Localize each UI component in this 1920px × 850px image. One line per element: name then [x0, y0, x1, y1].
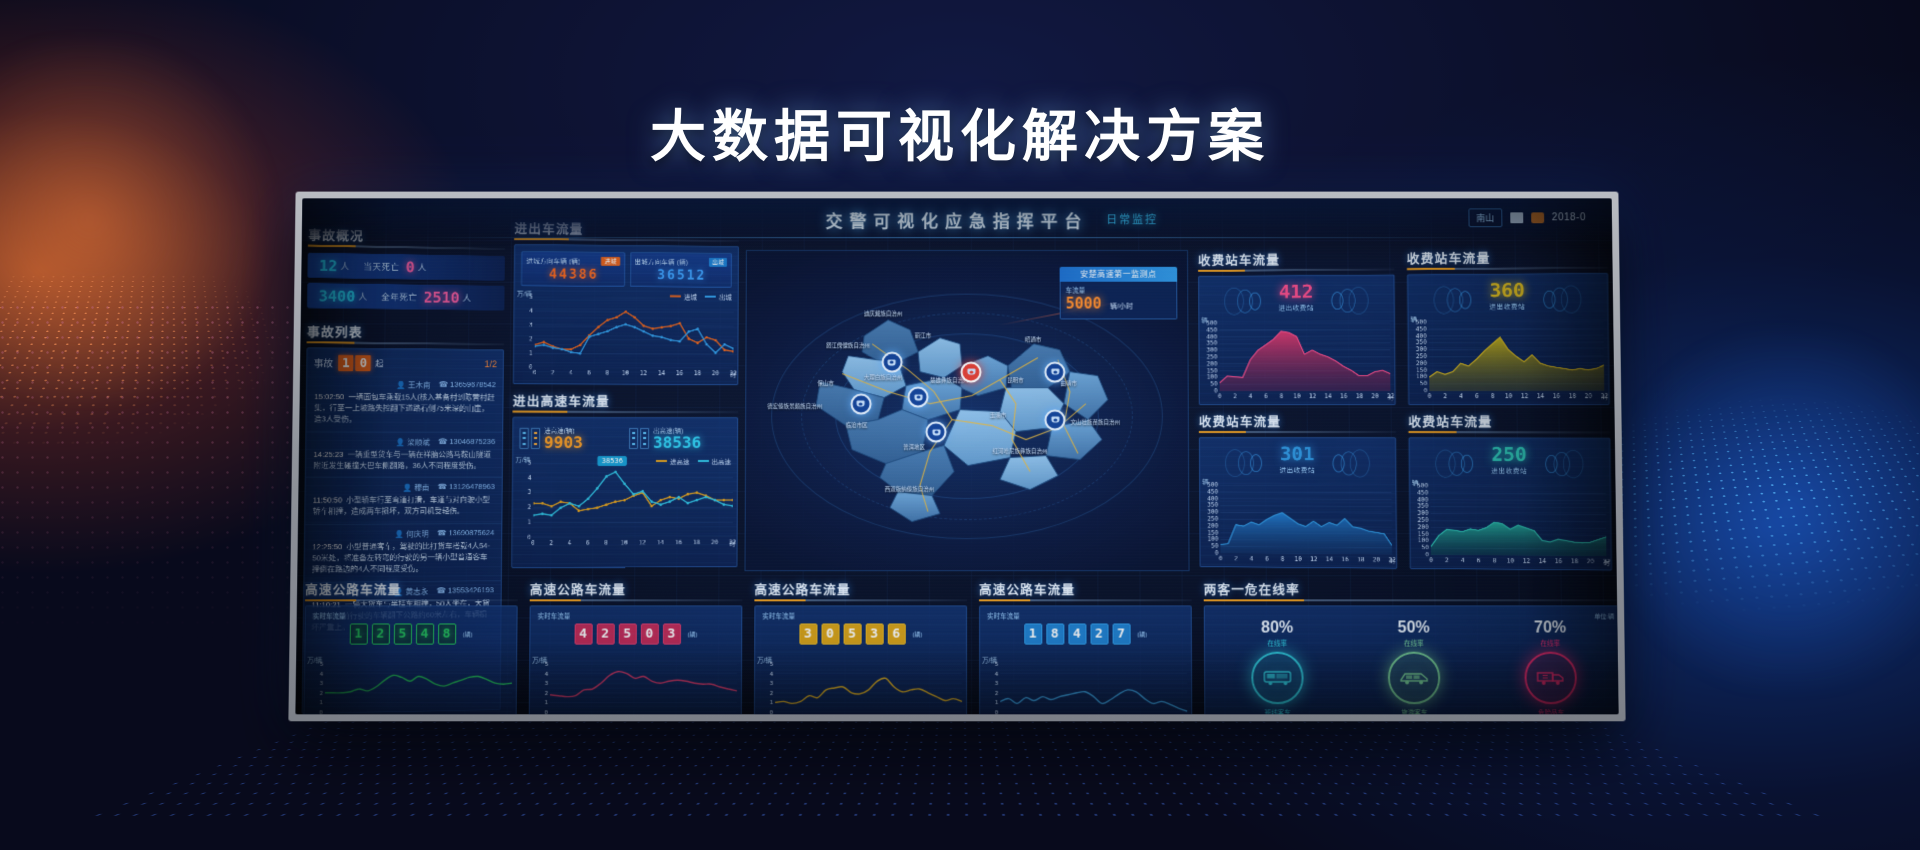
online-rate-percent: 50% [1350, 620, 1477, 636]
chart-point [533, 514, 535, 517]
x-tick: 0 [1428, 393, 1432, 400]
legend-item: 出高速 [697, 456, 731, 466]
chart-svg [533, 463, 733, 538]
chart-inout-flow: 万/辆5432100246810121416182022时进城出城 [514, 288, 738, 381]
chart-x-axis: 0246810121416182022时 [1220, 392, 1391, 404]
map-city-label: 保山市 [817, 381, 834, 388]
legend-swatch [670, 295, 681, 297]
toll-panel-title: 收费站车流量 [1199, 411, 1396, 433]
x-tick: 0 [1218, 393, 1222, 400]
accident-time: 14:25:23 [313, 449, 343, 458]
chart-point [596, 487, 599, 490]
stat-label-secondary: 当天死亡 [363, 260, 399, 273]
odometer-digit: 7 [1112, 623, 1130, 644]
stat-value-primary: 12 [319, 256, 338, 274]
toll-panel-body: 412进出收费站辆5004504003503002502001501005000… [1198, 274, 1396, 405]
x-tick: 20 [712, 370, 719, 377]
bus-icon [1251, 652, 1304, 704]
x-tick: 16 [1341, 556, 1348, 563]
chart-point [606, 330, 609, 333]
y-tick: 2 [995, 689, 999, 696]
x-tick: 12 [1523, 558, 1531, 565]
toll-caption: 进出收费站 [1489, 301, 1525, 311]
x-tick: 18 [1571, 558, 1579, 565]
chart-highway: 万/辆5432100246810121416182022时 [530, 655, 741, 715]
chart-plot [1219, 323, 1390, 392]
chart-point [696, 328, 699, 331]
toll-panel-body: 301进出收费站辆5004504003503002502001501005000… [1199, 437, 1397, 569]
highway-panel-title: 高速公路车流量 [530, 579, 743, 601]
chart-x-axis: 0246810121416182022时 [1431, 556, 1607, 570]
traffic-light-icon [531, 428, 540, 449]
signal-wave-right-icon [1332, 450, 1367, 476]
x-tick: 12 [1309, 393, 1316, 400]
x-tick: 14 [1539, 558, 1547, 565]
chart-highway: 万/辆5432100246810121416182022时 [755, 655, 966, 715]
x-tick: 12 [1310, 556, 1317, 563]
yunnan-map-shape [802, 300, 1133, 529]
odometer-digit: 3 [662, 623, 680, 644]
odometer-digit: 3 [799, 623, 817, 644]
chart-point [624, 310, 627, 313]
odometer-digit: 4 [415, 623, 433, 644]
x-tick: 20 [1371, 393, 1378, 400]
chart-point [723, 349, 726, 352]
chart-point [732, 350, 734, 353]
chart-point [714, 499, 717, 502]
chart-point [678, 340, 681, 343]
chart-svg [534, 297, 733, 368]
x-tick: 4 [1461, 557, 1465, 564]
chart-y-axis: 500450400350300250200150100500 [1202, 485, 1218, 553]
odometer-digit: 2 [1090, 623, 1108, 644]
toll-caption: 进出收费站 [1279, 302, 1314, 312]
y-tick: 1 [529, 350, 533, 357]
y-tick: 4 [770, 670, 774, 677]
odometer-digit: 5 [843, 623, 861, 644]
map-city-label: 昆明市 [1007, 378, 1023, 385]
chart-point [668, 500, 671, 503]
chart-point [642, 325, 645, 328]
highway-panel-caption: 实时车流量 [755, 606, 966, 621]
chart-svg [1220, 485, 1392, 555]
stat-value-secondary: 2510 [423, 288, 459, 306]
highway-panel-body: 实时车流量30536(辆)万/辆543210024681012141618202… [754, 605, 967, 714]
chart-y-axis: 543210 [757, 664, 773, 712]
accident-list-item[interactable]: 👤 王木南☎ 1365967854215:02:50一辆面包车乘载15人(核入基… [307, 375, 503, 433]
chart-point [605, 503, 608, 506]
x-tick: 2 [1234, 555, 1238, 562]
chart-y-axis: 543210 [532, 664, 548, 712]
chart-point [542, 341, 545, 344]
map-tooltip-body: 车流量 5000 辆/小时 [1060, 282, 1178, 320]
panel-toll-station: 收费站车流量412进出收费站辆5004504003503002502001501… [1198, 248, 1396, 405]
y-tick: 5 [529, 294, 533, 301]
x-tick: 2 [1445, 557, 1449, 564]
y-tick: 4 [319, 670, 323, 677]
x-tick: 8 [1493, 557, 1497, 564]
chart-point [597, 333, 600, 336]
chart-plot [550, 664, 737, 712]
panel-highway-flow: 高速公路车流量实时车流量18427(辆)万/辆54321002468101214… [979, 579, 1192, 714]
y-tick: 4 [995, 670, 999, 677]
accident-list-item[interactable]: 👤 穆南☎ 1312647896311:50:50小型轿车行至弯道打滑，车道与对… [305, 478, 501, 525]
map-city-label: 丽江市 [915, 333, 931, 340]
chart-svg [1219, 323, 1390, 392]
x-tick: 0 [531, 540, 535, 547]
map-tooltip: 安楚高速第一监测点 车流量 5000 辆/小时 [1060, 267, 1178, 320]
highway-panel-title: 高速公路车流量 [305, 579, 518, 601]
chart-plot [775, 664, 962, 712]
chart-point [632, 493, 635, 496]
chart-legend: 进高速出高速 [656, 456, 731, 466]
odometer-digit: 3 [569, 267, 577, 282]
highway-odometer: 12548(辆) [305, 623, 516, 644]
map-panel[interactable]: 迪庆藏族自治州丽江市怒江傈僳族自治州大理白族自治州楚雄彝族自治州昭通市昆明市曲靖… [744, 250, 1189, 571]
toll-value-block: 412进出收费站 [1278, 283, 1313, 312]
x-tick: 14 [657, 539, 664, 546]
bottom-row: 高速公路车流量实时车流量12548(辆)万/辆54321002468101214… [303, 579, 1610, 714]
chart-point [668, 496, 671, 499]
chart-y-axis: 500450400350300250200150100500 [1201, 323, 1217, 391]
odometer-digit: 4 [574, 623, 592, 644]
chart-point [669, 325, 672, 328]
flow-card-tag: 出城 [709, 257, 727, 266]
chart-point [732, 499, 733, 502]
x-tick: 6 [1475, 393, 1479, 400]
flow-card-tag: 进城 [601, 256, 619, 265]
map-alert-marker-icon[interactable] [961, 361, 982, 382]
traffic-light-icon-group [520, 428, 540, 449]
vehicle-type-name: 班线客车 [1214, 707, 1341, 714]
map-camera-marker-icon[interactable] [926, 422, 947, 443]
map-camera-marker-icon[interactable] [1045, 361, 1066, 382]
chart-point [669, 339, 672, 342]
chart-point [650, 500, 653, 503]
map-tooltip-unit: 辆/小时 [1110, 304, 1133, 311]
map-camera-marker-icon[interactable] [881, 352, 902, 373]
map-tooltip-label: 车流量 [1066, 285, 1172, 295]
chart-x-axis: 0246810121416182022时 [775, 713, 962, 714]
highway-panel-body: 实时车流量18427(辆)万/辆543210024681012141618202… [979, 605, 1192, 714]
chart-point [659, 503, 662, 506]
panel-highway-flow: 高速公路车流量实时车流量30536(辆)万/辆54321002468101214… [754, 579, 967, 714]
chart-point [541, 512, 544, 515]
x-tick: 12 [640, 370, 647, 377]
chart-plot [533, 463, 733, 538]
odometer-digit: 6 [589, 268, 597, 283]
x-tick: 4 [569, 370, 573, 377]
curved-video-wall: 交警可视化应急指挥平台 日常监控 南山 2018-0 事故概况 12人当天死亡0… [292, 190, 1622, 720]
chart-x-axis: 0246810121416182022时 [550, 713, 737, 714]
x-tick: 16 [1340, 393, 1347, 400]
coach-icon [1388, 652, 1441, 704]
truck-icon [1524, 652, 1577, 704]
highway-odometer: 42503(辆) [530, 623, 741, 644]
accident-count-digit: 0 [356, 355, 372, 371]
chart-area [1431, 522, 1607, 556]
flow-card-caption-row: 进城方向车辆 (辆)进城 [526, 255, 619, 266]
y-tick: 3 [769, 680, 773, 687]
accident-list-item[interactable]: 👤 梁顺斌☎ 1304687523614:25:23一辆重型货车与一辆在祥脑公路… [306, 432, 502, 478]
x-tick: 16 [675, 539, 682, 546]
toll-value: 360 [1489, 281, 1525, 300]
accident-item-text: 15:02:50一辆面包车乘载15人(核入基备村到陈营村赶集，行至一上坡路失控翻… [314, 392, 496, 426]
chart-toll: 辆500450400350300250200150100500024681012… [1408, 312, 1609, 404]
dashboard-screen: 交警可视化应急指挥平台 日常监控 南山 2018-0 事故概况 12人当天死亡0… [295, 199, 1618, 715]
x-tick: 10 [622, 370, 629, 377]
accident-stat-row: 12人当天死亡0人 [308, 253, 505, 281]
map-city-label: 玉溪市 [990, 413, 1007, 420]
chart-point [614, 470, 617, 473]
traffic-light-icon [629, 428, 638, 449]
flow-card-caption: 进城方向车辆 (辆) [526, 255, 580, 265]
highway-panel-body: 实时车流量12548(辆)万/辆543210024681012141618202… [303, 605, 517, 714]
x-tick: 16 [1553, 393, 1561, 400]
chart-plot [1220, 485, 1392, 555]
accident-time: 15:02:50 [314, 392, 344, 401]
two-passenger-item[interactable]: 70%在线率危险品车5000 [1487, 620, 1615, 714]
odometer-digit: 1 [687, 268, 695, 283]
chart-point [687, 330, 690, 333]
odometer-digit: 5 [393, 623, 411, 644]
chart-point [578, 509, 581, 512]
chart-x-axis: 0246810121416182022时 [1429, 392, 1604, 404]
legend-swatch [705, 295, 716, 297]
chart-point [559, 506, 562, 509]
dashboard-header: 交警可视化应急指挥平台 日常监控 南山 2018-0 [302, 199, 1612, 245]
inout-flow-cards: 进城方向车辆 (辆)进城44386出城方向车辆 (辆)出城36512 [515, 245, 738, 292]
chart-point [714, 351, 717, 354]
panel-highway-flow: 高速公路车流量实时车流量42503(辆)万/辆54321002468101214… [529, 579, 743, 714]
highway-odometer: 18427(辆) [980, 623, 1191, 644]
chart-point [642, 330, 645, 333]
toll-panel-title: 收费站车流量 [1198, 248, 1395, 272]
vehicle-type-name: 旅游客车 [1351, 707, 1478, 714]
chart-point [552, 346, 555, 349]
center-map-column: 迪庆藏族自治州丽江市怒江傈僳族自治州大理白族自治州楚雄彝族自治州昭通市昆明市曲靖… [744, 250, 1189, 571]
signal-wave-left-icon [1437, 287, 1472, 313]
two-passenger-item[interactable]: 50%在线率旅游客车6000 [1350, 620, 1478, 714]
y-tick: 2 [544, 689, 548, 696]
accident-item-meta: 👤 何庆明☎ 13690875624 [312, 528, 494, 540]
y-tick: 4 [545, 670, 549, 677]
two-passenger-body: 单位:辆80%在线率班线客车5000050%在线率旅游客车600070%在线率危… [1204, 605, 1619, 714]
toll-station-column: 收费站车流量412进出收费站辆5004504003503002502001501… [1198, 246, 1616, 575]
accident-reporter: 👤 穆南 [403, 482, 430, 493]
accident-count-header: 事故 10 起 1/2 [307, 348, 503, 376]
screen-bezel: 交警可视化应急指挥平台 日常监控 南山 2018-0 事故概况 12人当天死亡0… [288, 192, 1625, 722]
chart-point [723, 343, 726, 346]
y-tick: 3 [544, 680, 548, 687]
x-tick: 20 [1585, 393, 1593, 400]
odometer-digit: 4 [559, 267, 567, 282]
highway-panel-caption: 实时车流量 [980, 606, 1191, 621]
odometer-digit: 4 [1068, 623, 1086, 644]
header-right-controls: 南山 2018-0 [1468, 208, 1586, 227]
x-tick: 20 [711, 539, 718, 546]
odometer-digit: 2 [596, 623, 614, 644]
odometer-digit: 8 [1046, 623, 1064, 644]
x-unit: 时 [730, 539, 736, 548]
chart-point [588, 335, 591, 338]
inout-highway-body: 进高速(辆) 9903 出高速(辆) [511, 417, 738, 569]
chart-area [1429, 337, 1605, 391]
chart-point [633, 316, 636, 319]
chart-y-axis: 543210 [307, 664, 324, 712]
legend-label: 出城 [719, 292, 732, 302]
chart-point [687, 337, 690, 340]
inout-flow-card: 出城方向车辆 (辆)出城36512 [629, 252, 732, 288]
header-date: 2018-0 [1552, 212, 1586, 223]
chart-point [568, 502, 571, 505]
chart-point [678, 322, 681, 325]
chart-point [686, 493, 689, 496]
screen-icon[interactable] [1510, 212, 1523, 223]
odometer-digit: 5 [618, 623, 636, 644]
chart-area [1220, 512, 1392, 554]
y-tick: 2 [319, 689, 323, 696]
accident-list-item[interactable]: 👤 何庆明☎ 1369087562412:25:50小型普通客车，驾驶的比打货车… [305, 524, 502, 583]
y-tick: 4 [528, 474, 532, 481]
panel-inout-highway: 进出高速车流量 进高速(辆) 9903 [511, 390, 738, 568]
chart-point [705, 496, 708, 499]
map-camera-marker-icon[interactable] [908, 387, 929, 408]
map-city-label: 文山壮族苗族自治州 [1070, 419, 1120, 426]
y-tick: 2 [529, 336, 533, 343]
panel-toll-station: 收费站车流量360进出收费站辆5004504003503002502001501… [1407, 246, 1610, 405]
x-tick: 6 [1264, 393, 1268, 400]
chart-point [723, 499, 726, 502]
chart-point [633, 326, 636, 329]
x-tick: 8 [1280, 393, 1284, 400]
panel-toll-station: 收费站车流量301进出收费站辆5004504003503002502001501… [1199, 411, 1398, 569]
highway-panel-caption: 实时车流量 [531, 606, 742, 621]
panel-toll-station: 收费站车流量250进出收费站辆5004504003503002502001501… [1408, 411, 1612, 571]
chart-point [696, 342, 699, 345]
two-passenger-item[interactable]: 80%在线率班线客车50000 [1214, 620, 1342, 714]
x-tick: 6 [1265, 556, 1269, 563]
chart-y-axis: 543210 [516, 297, 533, 367]
x-tick: 8 [1281, 556, 1285, 563]
chart-point [550, 514, 553, 517]
accident-item-meta: 👤 梁顺斌☎ 13046875236 [314, 436, 496, 447]
x-tick: 18 [1356, 393, 1363, 400]
chart-x-axis: 0246810121416182022时 [325, 713, 512, 714]
toll-caption: 进出收费站 [1491, 465, 1527, 475]
toll-value: 301 [1279, 445, 1314, 464]
highway-panel-title: 高速公路车流量 [979, 579, 1192, 601]
chart-point [579, 352, 582, 355]
chart-point [570, 351, 573, 354]
x-tick: 20 [1373, 557, 1380, 564]
toll-value-block: 360进出收费站 [1489, 281, 1525, 311]
flow-card-odometer: 36512 [634, 268, 726, 284]
x-tick: 0 [1429, 557, 1433, 564]
x-tick: 10 [1507, 558, 1515, 565]
y-tick: 3 [995, 680, 999, 687]
chart-plot [325, 664, 512, 712]
online-rate-label: 在线率 [1487, 638, 1614, 648]
accident-phone: ☎ 13046875236 [438, 437, 495, 448]
signal-wave-left-icon [1228, 450, 1262, 476]
odometer-digit: 1 [349, 623, 367, 644]
accident-phone: ☎ 13659678542 [439, 380, 496, 391]
toll-caption: 进出收费站 [1280, 464, 1315, 474]
x-tick: 6 [1477, 557, 1481, 564]
x-tick: 20 [1587, 558, 1595, 565]
chart-point [695, 499, 698, 502]
odometer-digit: 2 [696, 268, 704, 283]
x-tick: 8 [604, 539, 608, 546]
chart-svg [1429, 322, 1605, 391]
chart-point [614, 500, 617, 503]
y-tick: 5 [545, 660, 549, 667]
highway-odometer-unit: (辆) [1137, 630, 1147, 639]
chart-point [606, 319, 609, 322]
chart-point [596, 506, 599, 509]
stat-unit-primary: 人 [358, 290, 367, 302]
legend-label: 出高速 [711, 456, 731, 466]
y-tick: 1 [544, 699, 548, 706]
chart-highway: 万/辆5432100246810121416182022时 [304, 655, 516, 715]
chart-x-axis: 0246810121416182022时 [533, 538, 733, 551]
odometer-digit: 2 [371, 623, 389, 644]
online-rate-percent: 70% [1487, 620, 1614, 636]
accident-item-meta: 👤 王木南☎ 13659678542 [314, 379, 495, 391]
toll-panel-title: 收费站车流量 [1407, 246, 1608, 270]
signal-wave-left-icon [1227, 288, 1261, 314]
chart-point [650, 505, 653, 508]
x-tick: 10 [1294, 556, 1301, 563]
y-tick: 2 [769, 689, 773, 696]
odometer-digit: 8 [437, 623, 455, 644]
x-tick: 10 [1293, 393, 1300, 400]
toll-panel-title: 收费站车流量 [1408, 411, 1610, 433]
x-unit: 时 [1389, 557, 1395, 566]
map-city-label: 迪庆藏族自治州 [864, 311, 902, 318]
y-tick: 3 [319, 680, 323, 687]
traffic-light-icon-group [629, 428, 649, 449]
highway-panel-title: 高速公路车流量 [754, 579, 967, 601]
map-camera-marker-icon[interactable] [1045, 409, 1066, 430]
chart-plot [1000, 664, 1187, 712]
region-selector[interactable]: 南山 [1468, 208, 1502, 227]
stat-label-secondary: 全年死亡 [381, 290, 417, 303]
chart-point [561, 348, 564, 351]
chart-point [659, 499, 662, 502]
chart-y-axis: 543210 [515, 463, 532, 538]
chart-point [731, 504, 733, 507]
chart-line [325, 675, 512, 693]
accident-item-meta: 👤 穆南☎ 13126478963 [313, 482, 495, 493]
accident-phone: ☎ 13126478963 [437, 482, 494, 493]
dashboard-title: 交警可视化应急指挥平台 [302, 207, 1612, 232]
y-tick: 4 [529, 308, 533, 315]
chart-point [677, 496, 680, 499]
stat-unit-secondary: 人 [418, 261, 427, 273]
flow-card-caption: 出城方向车辆 (辆) [635, 256, 689, 266]
map-camera-marker-icon[interactable] [850, 393, 871, 414]
legend-item: 出城 [705, 291, 732, 301]
x-tick: 18 [1569, 393, 1577, 400]
x-tick: 12 [639, 539, 646, 546]
alert-icon[interactable] [1531, 212, 1544, 223]
accident-count-digits: 10 [338, 354, 373, 372]
chart-toll: 辆500450400350300250200150100500024681012… [1199, 313, 1395, 404]
accident-list-pager[interactable]: 1/2 [484, 359, 497, 369]
y-tick: 5 [995, 660, 999, 667]
